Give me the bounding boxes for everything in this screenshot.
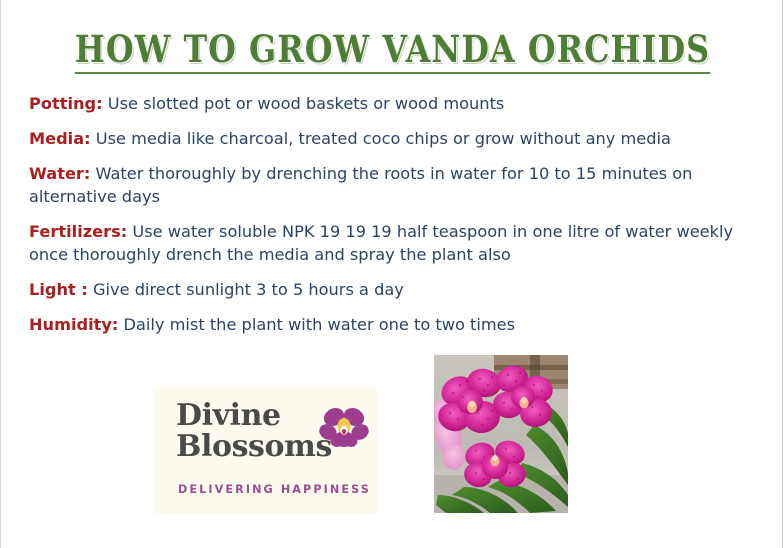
infographic-page: HOW TO GROW VANDA ORCHIDS Potting: Use s… (0, 0, 783, 548)
care-text-media: Use media like charcoal, treated coco ch… (91, 129, 671, 148)
care-text-potting: Use slotted pot or wood baskets or wood … (103, 94, 505, 113)
care-item-potting: Potting: Use slotted pot or wood baskets… (29, 92, 759, 115)
care-text-light: Give direct sunlight 3 to 5 hours a day (88, 280, 404, 299)
care-label-light: Light : (29, 280, 88, 299)
care-item-media: Media: Use media like charcoal, treated … (29, 127, 759, 150)
logo-tagline: DELIVERING HAPPINESS (178, 483, 371, 496)
care-label-potting: Potting: (29, 94, 103, 113)
care-item-fertilizers: Fertilizers: Use water soluble NPK 19 19… (29, 220, 759, 266)
care-item-water: Water: Water thoroughly by drenching the… (29, 162, 759, 208)
divine-blossoms-logo: Divine Blossoms (154, 387, 377, 514)
logo-wordmark-container: Divine Blossoms (176, 401, 361, 462)
care-item-light: Light : Give direct sunlight 3 to 5 hour… (29, 278, 759, 301)
care-text-water: Water thoroughly by drenching the roots … (29, 164, 692, 206)
page-title-container: HOW TO GROW VANDA ORCHIDS (1, 30, 783, 74)
page-title: HOW TO GROW VANDA ORCHIDS (75, 30, 710, 74)
care-label-media: Media: (29, 129, 91, 148)
care-text-fertilizers: Use water soluble NPK 19 19 19 half teas… (29, 222, 733, 264)
care-text-humidity: Daily mist the plant with water one to t… (118, 315, 515, 334)
vanda-orchid-photo (434, 355, 568, 513)
orchid-flower-icon (319, 405, 369, 449)
care-item-humidity: Humidity: Daily mist the plant with wate… (29, 313, 759, 336)
care-label-humidity: Humidity: (29, 315, 118, 334)
care-label-water: Water: (29, 164, 90, 183)
orchid-photo-graphic (434, 355, 568, 513)
care-instructions-list: Potting: Use slotted pot or wood baskets… (29, 92, 759, 348)
care-label-fertilizers: Fertilizers: (29, 222, 127, 241)
